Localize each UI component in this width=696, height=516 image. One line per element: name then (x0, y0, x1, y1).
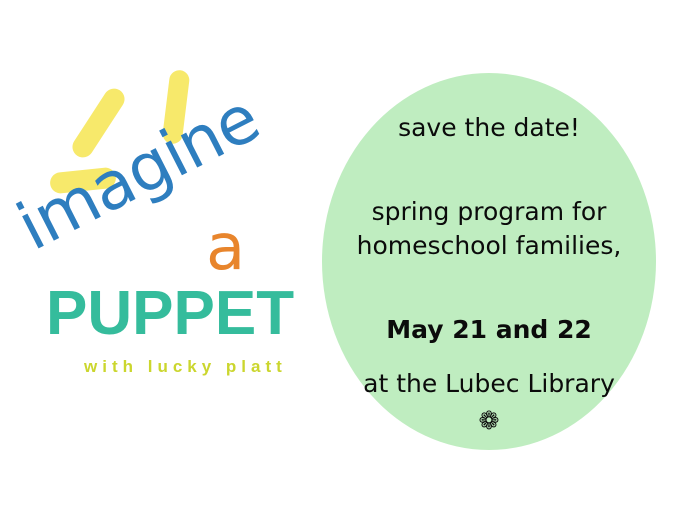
logo-word-a: a (206, 216, 245, 280)
logo-tagline: with lucky platt (84, 358, 287, 375)
poster-canvas: imagine a PUPPET with lucky platt save t… (0, 0, 696, 516)
flower-icon: ❁ (479, 408, 500, 433)
imagine-a-puppet-logo: imagine a PUPPET with lucky platt (0, 0, 330, 516)
announcement-text-block: save the date! spring program for homesc… (322, 73, 656, 450)
announcement-dates: May 21 and 22 (386, 314, 592, 346)
announcement-location: at the Lubec Library (363, 368, 615, 400)
announcement-body-line-1: spring program for (372, 196, 607, 228)
announcement-body-line-2: homeschool families, (357, 230, 622, 262)
announcement-headline: save the date! (398, 112, 580, 144)
logo-word-puppet: PUPPET (46, 283, 294, 345)
